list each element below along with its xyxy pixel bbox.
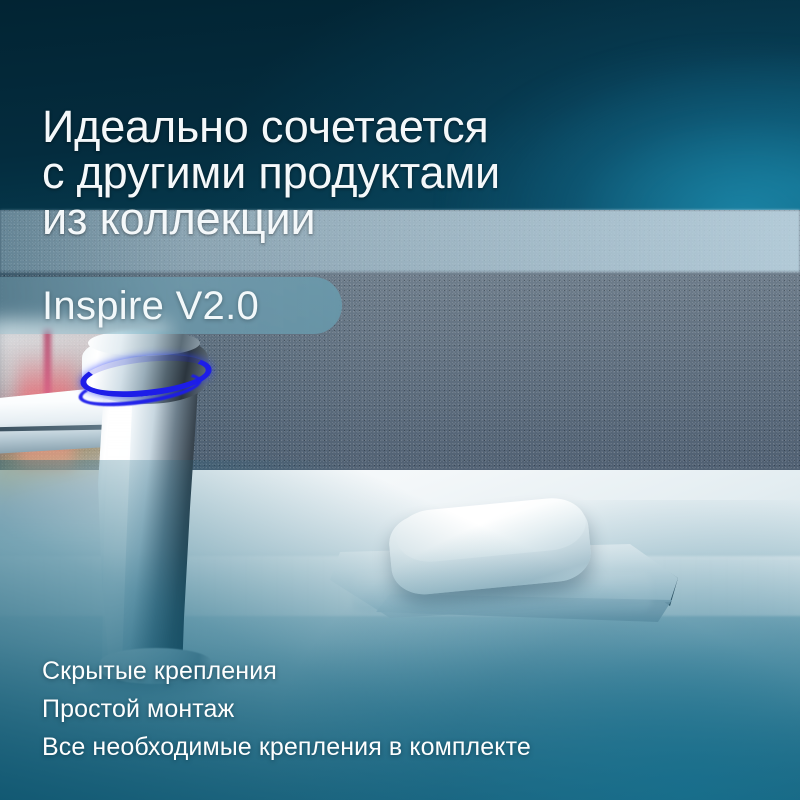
soap-dish-assembly	[330, 498, 710, 628]
headline-line-2: с другими продуктами	[42, 150, 662, 196]
headline-line-3: из коллекции	[42, 196, 662, 242]
collection-badge-label: Inspire V2.0	[42, 282, 259, 330]
promo-banner: Идеально сочетается с другими продуктами…	[0, 0, 800, 800]
feature-item-1: Скрытые крепления	[42, 652, 762, 690]
headline: Идеально сочетается с другими продуктами…	[42, 104, 662, 242]
chrome-faucet	[0, 330, 300, 690]
feature-item-2: Простой монтаж	[42, 690, 762, 728]
feature-item-3: Все необходимые крепления в комплекте	[42, 728, 762, 766]
headline-line-1: Идеально сочетается	[42, 104, 662, 150]
feature-list: Скрытые крепления Простой монтаж Все нео…	[42, 652, 762, 766]
